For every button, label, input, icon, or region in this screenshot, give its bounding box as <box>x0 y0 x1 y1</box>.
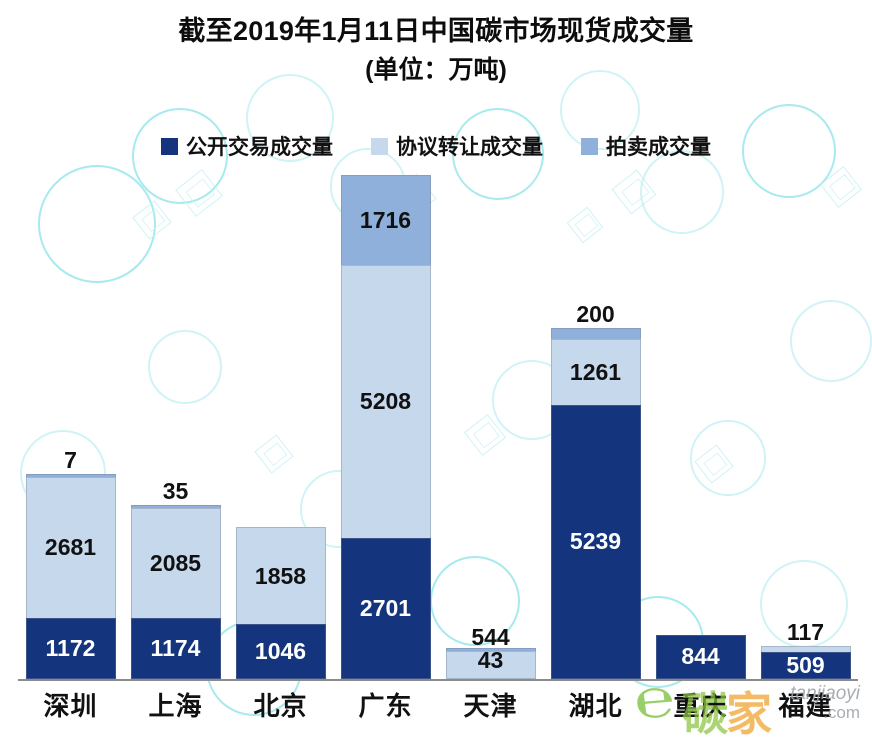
bar-value-label: 2701 <box>360 597 411 620</box>
bar-segment[interactable]: 1174 <box>131 618 221 679</box>
bar-value-label: 200 <box>576 303 614 326</box>
bar-column-重庆: 844 <box>650 175 752 679</box>
bar-segment[interactable]: 1261 <box>551 339 641 405</box>
chart-subtitle: (单位：万吨) <box>0 57 872 85</box>
chart-legend: 公开交易成交量协议转让成交量拍卖成交量 <box>0 131 872 161</box>
bar-segment[interactable]: 2701 <box>341 538 431 679</box>
bar-stack[interactable]: 844 <box>656 635 746 679</box>
bar-segment[interactable]: 1858 <box>236 527 326 624</box>
bar-value-label: 1046 <box>255 640 306 663</box>
bar-segment[interactable]: 1046 <box>236 624 326 679</box>
bar-value-label: 2681 <box>45 536 96 559</box>
chart-plot-area: 7268111723520851174185810461716520827014… <box>18 175 858 681</box>
bar-segment[interactable]: 5239 <box>551 405 641 679</box>
bar-value-label: 844 <box>681 645 719 668</box>
bar-segment[interactable]: 2085 <box>131 508 221 617</box>
chart-title-block: 截至2019年1月11日中国碳市场现货成交量 (单位：万吨) <box>0 16 872 84</box>
bar-segment[interactable]: 1716 <box>341 175 431 265</box>
bar-stack[interactable]: 171652082701 <box>341 175 431 679</box>
bar-stack[interactable]: 18581046 <box>236 527 326 679</box>
bar-column-广东: 171652082701 <box>335 175 437 679</box>
legend-label: 公开交易成交量 <box>186 131 333 161</box>
bar-stack[interactable]: 3520851174 <box>131 505 221 679</box>
legend-swatch-icon <box>161 138 178 155</box>
x-axis-label-上海: 上海 <box>125 686 227 723</box>
bar-stack[interactable]: 20012615239 <box>551 328 641 679</box>
bar-column-深圳: 726811172 <box>20 175 122 679</box>
bar-value-label: 1172 <box>46 637 96 660</box>
bar-value-label: 5239 <box>570 530 621 553</box>
bar-value-label: 1174 <box>151 637 201 660</box>
bar-value-label: 1858 <box>255 565 306 588</box>
legend-label: 拍卖成交量 <box>606 131 711 161</box>
bar-value-label: 7 <box>64 449 77 472</box>
bar-value-label: 2085 <box>150 552 201 575</box>
legend-item-2[interactable]: 协议转让成交量 <box>371 131 543 161</box>
bar-value-label: 43 <box>478 649 504 672</box>
x-axis-label-福建: 福建 <box>755 686 857 723</box>
x-axis-label-广东: 广东 <box>335 686 437 723</box>
bar-value-label: 5208 <box>360 390 411 413</box>
legend-swatch-icon <box>581 138 598 155</box>
bar-value-label: 1716 <box>360 209 411 232</box>
legend-item-3[interactable]: 拍卖成交量 <box>581 131 711 161</box>
bar-stack[interactable]: 43544 <box>446 648 536 679</box>
x-axis-labels: 深圳上海北京广东天津湖北重庆福建 <box>18 686 858 723</box>
bar-segment[interactable]: 844 <box>656 635 746 679</box>
bar-column-湖北: 20012615239 <box>545 175 647 679</box>
bar-segment[interactable]: 2681 <box>26 477 116 617</box>
bar-segment[interactable]: 5208 <box>341 265 431 538</box>
bar-column-上海: 3520851174 <box>125 175 227 679</box>
bar-stack[interactable]: 726811172 <box>26 474 116 679</box>
bar-value-label: 1261 <box>570 361 621 384</box>
legend-swatch-icon <box>371 138 388 155</box>
bar-column-天津: 43544 <box>440 175 542 679</box>
x-axis-label-重庆: 重庆 <box>650 686 752 723</box>
bar-column-福建: 117509 <box>755 175 857 679</box>
bar-value-label: 509 <box>786 654 824 677</box>
legend-item-1[interactable]: 公开交易成交量 <box>161 131 333 161</box>
bar-value-label: 117 <box>787 621 824 644</box>
bar-column-北京: 18581046 <box>230 175 332 679</box>
x-axis-label-天津: 天津 <box>440 686 542 723</box>
x-axis-label-北京: 北京 <box>230 686 332 723</box>
bar-segment[interactable]: 200 <box>551 328 641 338</box>
x-axis-line <box>18 679 858 681</box>
x-axis-label-深圳: 深圳 <box>20 686 122 723</box>
bar-segment[interactable]: 509 <box>761 652 851 679</box>
bar-segment[interactable]: 1172 <box>26 618 116 679</box>
legend-label: 协议转让成交量 <box>396 131 543 161</box>
bar-group: 7268111723520851174185810461716520827014… <box>18 175 858 679</box>
x-axis-label-湖北: 湖北 <box>545 686 647 723</box>
bar-value-label: 35 <box>163 480 189 503</box>
bar-stack[interactable]: 117509 <box>761 646 851 679</box>
chart-title: 截至2019年1月11日中国碳市场现货成交量 <box>0 16 872 48</box>
bar-value-label: 544 <box>471 626 509 649</box>
